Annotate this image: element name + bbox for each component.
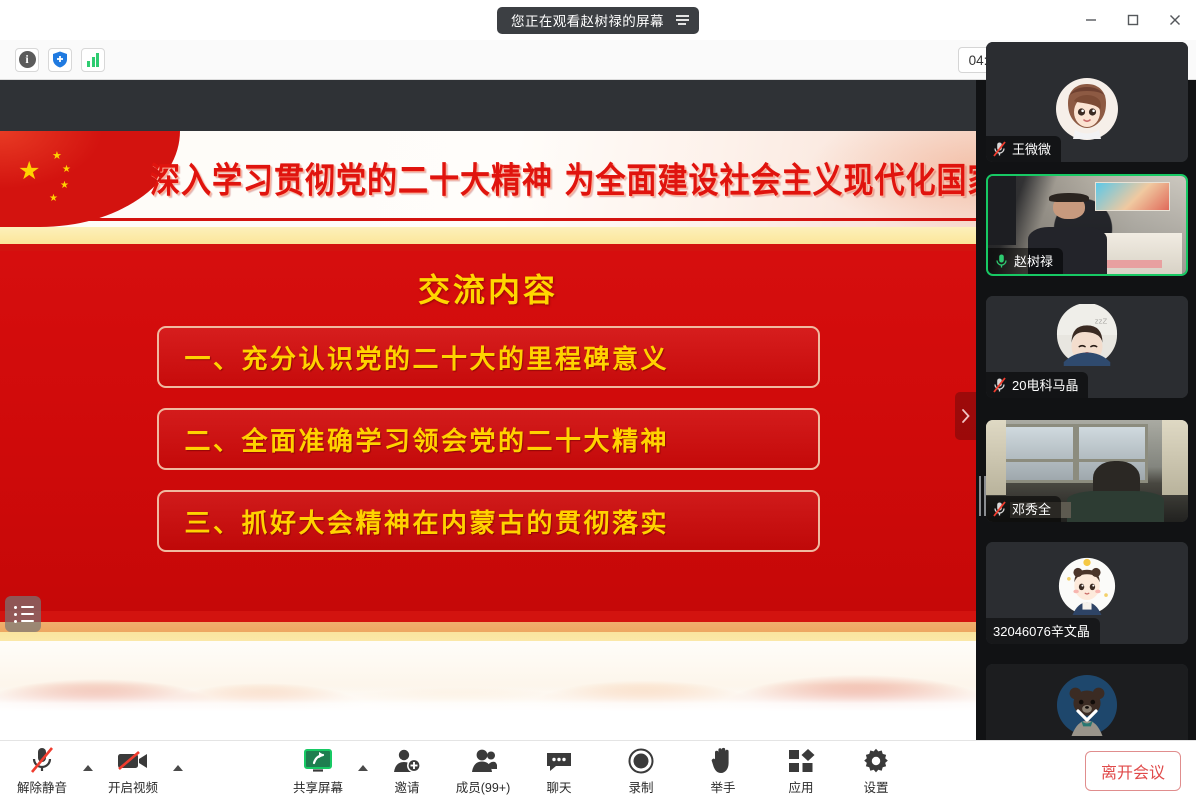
maximize-button[interactable] <box>1112 0 1154 40</box>
gear-icon <box>863 746 889 774</box>
window-controls <box>1070 0 1196 40</box>
toolbar-left-group: i <box>15 48 105 72</box>
info-icon: i <box>19 51 36 68</box>
mute-toggle-button[interactable]: 解除静音 <box>7 746 77 796</box>
list-menu-icon[interactable] <box>5 596 41 632</box>
video-toggle-button[interactable]: 开启视频 <box>98 746 168 796</box>
footer-mist <box>0 685 976 711</box>
footer-band-red <box>0 611 976 622</box>
record-label: 录制 <box>628 777 653 796</box>
slide-banner-title: 深入学习贯彻党的二十大精神 为全面建设社会主义现代化国家团结奋斗 <box>150 151 968 203</box>
flag-star-small-1: ★ <box>52 149 62 162</box>
red-rule <box>0 244 976 251</box>
slide-body: 交流内容 一、充分认识党的二十大的里程碑意义 二、全面准确学习领会党的二十大精神… <box>0 251 976 611</box>
chat-button[interactable]: 聊天 <box>524 746 594 796</box>
gold-strip <box>0 227 976 244</box>
security-button[interactable] <box>48 48 72 72</box>
slide-bullet-1-text: 一、充分认识党的二十大的里程碑意义 <box>185 339 670 376</box>
microphone-muted-icon <box>993 501 1006 517</box>
participant-name: 赵树禄 <box>1014 251 1053 270</box>
participant-name: 邓秀全 <box>1012 499 1051 518</box>
footer-band-orange <box>0 622 976 632</box>
apps-button[interactable]: 应用 <box>766 746 836 796</box>
share-screen-label: 共享屏幕 <box>293 777 343 796</box>
participants-button[interactable]: 成员(99+) <box>448 746 518 796</box>
record-icon <box>628 746 654 774</box>
flag-star-small-4: ★ <box>49 193 58 204</box>
slide-bullet-3-text: 三、抓好大会精神在内蒙古的贯彻落实 <box>185 503 670 540</box>
minimize-button[interactable] <box>1070 0 1112 40</box>
flag-star-large: ★ <box>18 159 40 184</box>
participant-label: 20电科马晶 <box>986 372 1088 398</box>
settings-button[interactable]: 设置 <box>841 746 911 796</box>
participant-name: 王微微 <box>1012 139 1051 158</box>
chevron-down-icon <box>1073 705 1101 725</box>
watching-screen-pill[interactable]: 您正在观看赵树禄的屏幕 <box>497 7 699 34</box>
video-toggle-label: 开启视频 <box>108 777 158 796</box>
participant-tile[interactable]: 王微微 <box>986 42 1188 162</box>
title-bar: 您正在观看赵树禄的屏幕 <box>0 0 1196 40</box>
microphone-muted-icon <box>29 746 55 774</box>
close-button[interactable] <box>1154 0 1196 40</box>
raise-hand-button[interactable]: 举手 <box>688 746 758 796</box>
participant-label: 邓秀全 <box>986 496 1061 522</box>
chat-bubble-icon <box>545 746 573 774</box>
share-options-chevron-icon[interactable] <box>358 765 368 771</box>
chat-label: 聊天 <box>546 777 571 796</box>
participant-label: 赵树禄 <box>988 248 1063 274</box>
participant-tile[interactable]: 赵树禄 <box>986 174 1188 276</box>
participant-name: 20电科马晶 <box>1012 375 1078 394</box>
slide-banner: ★ ★ ★ ★ ★ 深入学习贯彻党的二十大精神 为全面建设社会主义现代化国家团结… <box>0 131 976 227</box>
slide-footer-art <box>0 611 976 711</box>
share-screen-icon <box>303 746 333 774</box>
microphone-muted-icon <box>993 377 1006 393</box>
participant-label: 32046076辛文晶 <box>986 618 1100 644</box>
audio-options-chevron-icon[interactable] <box>83 765 93 771</box>
apps-label: 应用 <box>788 777 813 796</box>
participants-label: 成员(99+) <box>456 777 511 796</box>
drag-handle-icon[interactable] <box>979 476 987 516</box>
microphone-icon <box>995 253 1008 269</box>
watching-screen-text: 您正在观看赵树禄的屏幕 <box>511 10 664 30</box>
flag-star-small-2: ★ <box>62 164 71 175</box>
banner-bottom-rule <box>0 218 976 221</box>
footer-band-gold <box>0 632 976 641</box>
microphone-muted-icon <box>993 141 1006 157</box>
shared-screen-stage[interactable]: ★ ★ ★ ★ ★ 深入学习贯彻党的二十大精神 为全面建设社会主义现代化国家团结… <box>0 80 976 740</box>
raise-hand-icon <box>711 746 735 774</box>
slide-bullet-3: 三、抓好大会精神在内蒙古的贯彻落实 <box>157 490 820 552</box>
raise-hand-label: 举手 <box>710 777 735 796</box>
shield-plus-icon <box>52 51 68 68</box>
share-screen-button[interactable]: 共享屏幕 <box>283 746 353 796</box>
slide-bullet-1: 一、充分认识党的二十大的里程碑意义 <box>157 326 820 388</box>
invite-person-icon <box>393 746 421 774</box>
collapse-sidebar-button[interactable] <box>955 392 976 440</box>
signal-bars-icon <box>87 53 99 67</box>
participant-name: 32046076辛文晶 <box>993 621 1090 640</box>
slide-bullet-2: 二、全面准确学习领会党的二十大精神 <box>157 408 820 470</box>
camera-off-icon <box>116 746 150 774</box>
slide-bullet-2-text: 二、全面准确学习领会党的二十大精神 <box>185 421 670 458</box>
participant-tile[interactable]: 邓秀全 <box>986 420 1188 522</box>
participants-icon <box>469 746 497 774</box>
svg-text:zzZ: zzZ <box>1095 316 1108 325</box>
presentation-slide: ★ ★ ★ ★ ★ 深入学习贯彻党的二十大精神 为全面建设社会主义现代化国家团结… <box>0 131 976 740</box>
leave-meeting-button[interactable]: 离开会议 <box>1085 751 1181 791</box>
record-button[interactable]: 录制 <box>606 746 676 796</box>
invite-button[interactable]: 邀请 <box>372 746 442 796</box>
network-status-button[interactable] <box>81 48 105 72</box>
settings-label: 设置 <box>863 777 888 796</box>
slide-bullet-list: 一、充分认识党的二十大的里程碑意义 二、全面准确学习领会党的二十大精神 三、抓好… <box>0 326 976 552</box>
hamburger-icon[interactable] <box>672 12 693 28</box>
participant-label: 王微微 <box>986 136 1061 162</box>
participant-tile[interactable]: zzZ 20电科马晶 <box>986 296 1188 398</box>
chevron-right-icon <box>960 408 971 424</box>
video-options-chevron-icon[interactable] <box>173 765 183 771</box>
participant-sidebar[interactable]: 王微微 赵树禄 <box>976 80 1196 740</box>
invite-label: 邀请 <box>394 777 419 796</box>
flag-star-small-3: ★ <box>60 180 69 191</box>
mute-toggle-label: 解除静音 <box>17 777 67 796</box>
slide-heading: 交流内容 <box>0 265 976 311</box>
participant-tile[interactable]: 32046076辛文晶 <box>986 542 1188 644</box>
apps-grid-icon <box>788 746 815 774</box>
meeting-info-button[interactable]: i <box>15 48 39 72</box>
meeting-controls-bar: 解除静音 开启视频 共享屏幕 <box>0 740 1196 792</box>
